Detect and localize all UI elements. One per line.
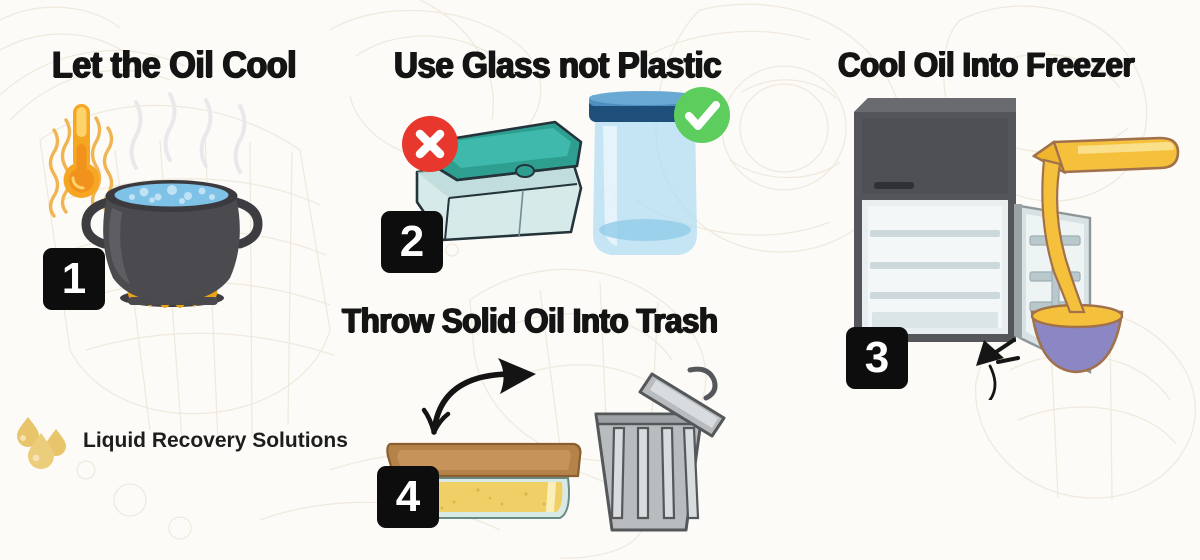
infographic-canvas: Let the Oil Cool Use Glass not Plastic C… — [0, 0, 1200, 560]
oil-bowl — [1032, 305, 1122, 372]
trash-bin — [596, 369, 724, 530]
red-x-circle-icon — [402, 116, 458, 172]
green-check-circle-icon — [674, 87, 730, 143]
brand-logo: Liquid Recovery Solutions — [12, 410, 362, 472]
three-oil-droplets-icon — [12, 413, 70, 469]
curved-arrow-icon — [424, 358, 536, 432]
steam-lines — [132, 94, 245, 172]
step-number-badge-2: 2 — [381, 211, 443, 273]
panel-title-4: Throw Solid Oil Into Trash — [342, 302, 718, 341]
step-number-badge-1: 1 — [43, 248, 105, 310]
panel-title-2: Use Glass not Plastic — [394, 44, 721, 86]
power-plug-icon — [976, 340, 1018, 400]
step-number-badge-3: 3 — [846, 327, 908, 389]
step-number-badge-4: 4 — [377, 466, 439, 528]
brand-name: Liquid Recovery Solutions — [83, 429, 348, 453]
panel-title-3: Cool Oil Into Freezer — [838, 46, 1134, 85]
illustration-containers — [395, 80, 755, 280]
panel-title-1: Let the Oil Cool — [52, 44, 296, 86]
